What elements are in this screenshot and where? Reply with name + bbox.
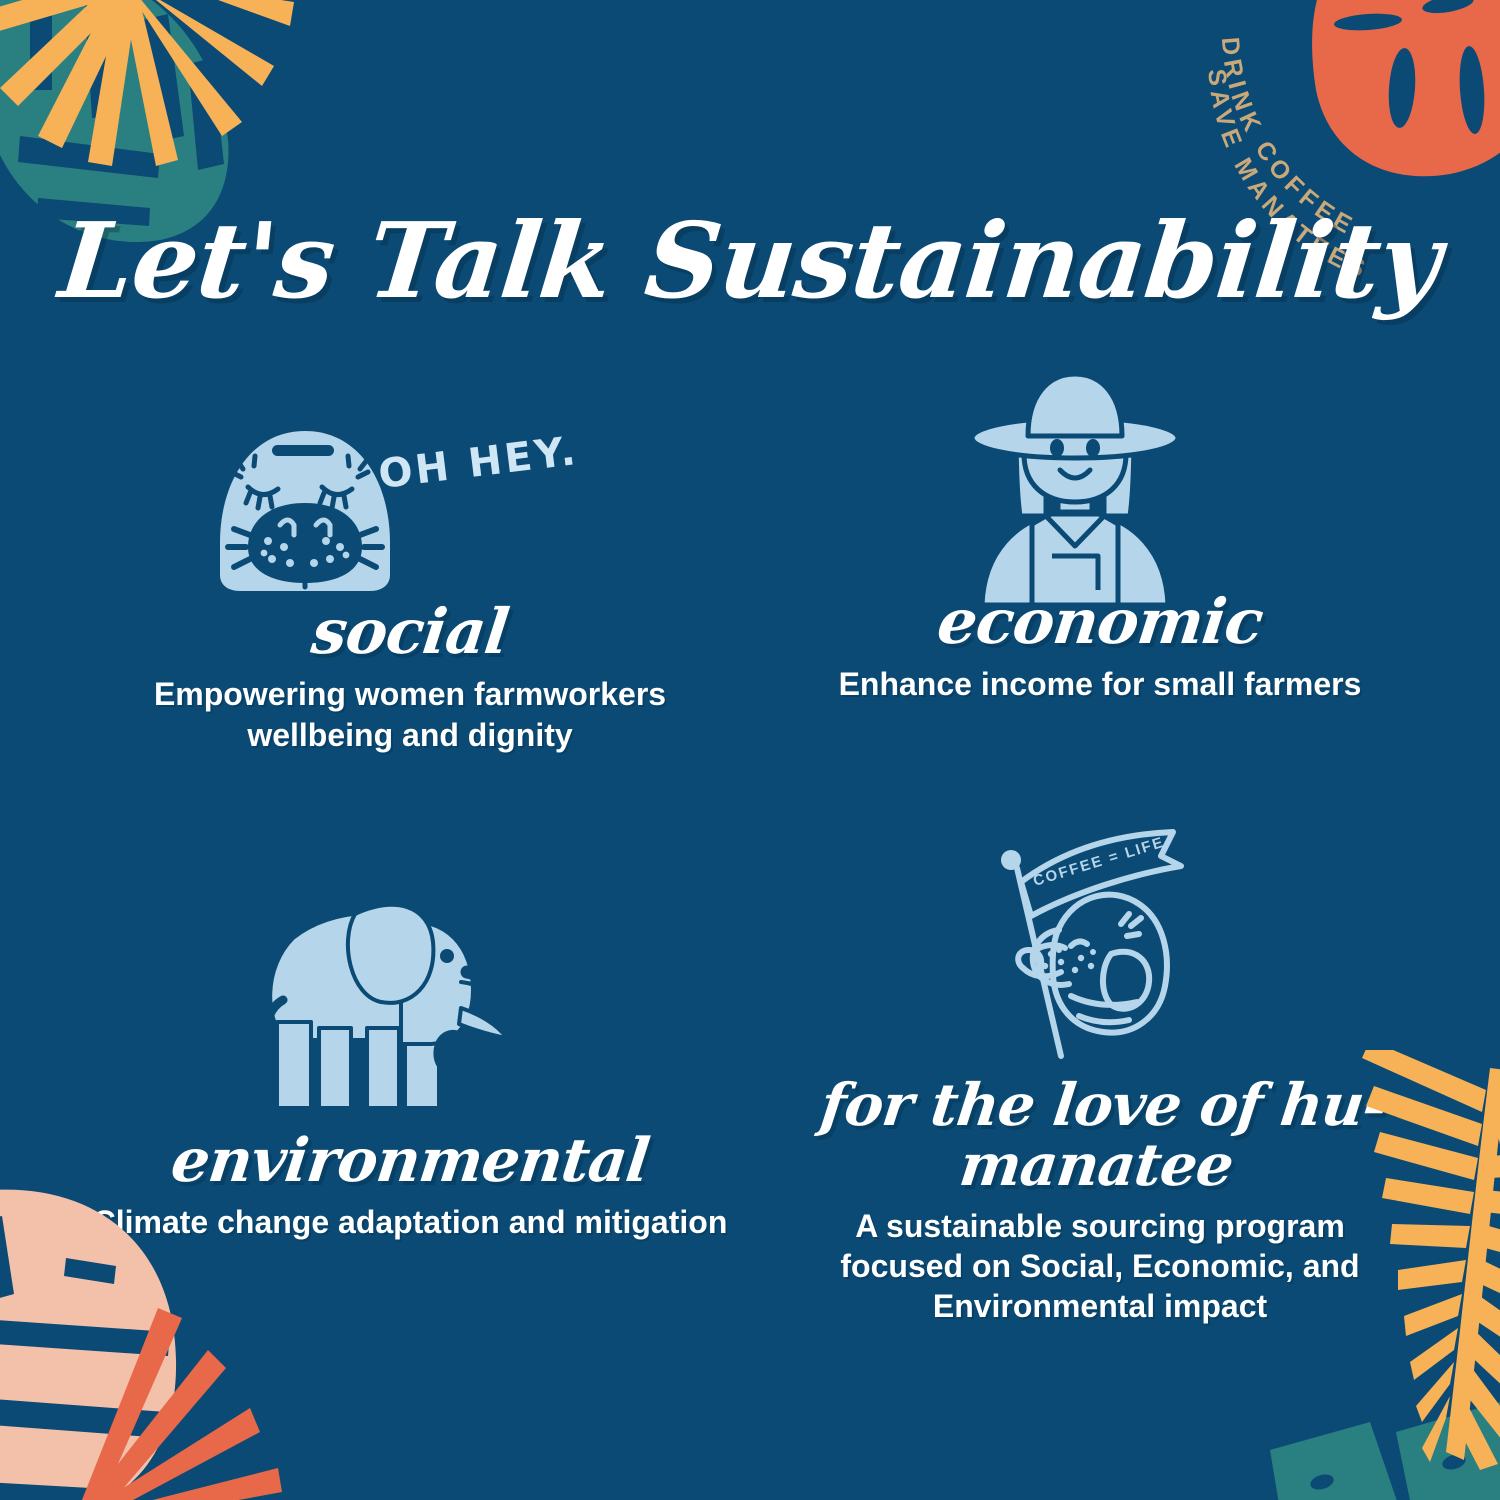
orange-palm-frond — [0, 0, 294, 166]
block-environmental-body: Climate change adaptation and mitigation — [60, 1202, 760, 1242]
block-environmental-heading: environmental — [56, 1130, 764, 1192]
block-environmental: environmental Climate change adaptation … — [60, 1130, 760, 1243]
block-hu-manatee-body: A sustainable sourcing program focused o… — [790, 1206, 1410, 1327]
manatee-with-flag-icon: COFFEE = LIFE — [975, 820, 1225, 1070]
block-hu-manatee-heading: for the love of hu-manatee — [783, 1075, 1418, 1196]
block-hu-manatee: for the love of hu-manatee A sustainable… — [790, 1075, 1410, 1327]
block-economic-heading: economic — [786, 590, 1414, 654]
block-social-heading: social — [96, 600, 724, 664]
block-social: social Empowering women farmworkers well… — [100, 600, 720, 755]
block-social-body: Empowering women farmworkers wellbeing a… — [100, 674, 720, 755]
coral-palm-frond — [68, 1308, 282, 1500]
block-economic: economic Enhance income for small farmer… — [790, 590, 1410, 705]
oh-hey-speech-text: OH HEY. — [376, 428, 581, 498]
woman-farmer-icon — [960, 360, 1190, 605]
block-economic-body: Enhance income for small farmers — [790, 664, 1410, 704]
teal-leaf-bottom — [1270, 1402, 1500, 1500]
manatee-face-icon — [210, 425, 400, 600]
page-title: Let's Talk Sustainability — [0, 208, 1500, 314]
elephant-icon — [215, 890, 515, 1115]
sustainability-poster: DRINK COFFEE SAVE MANATEES Let's Talk Su… — [0, 0, 1500, 1500]
